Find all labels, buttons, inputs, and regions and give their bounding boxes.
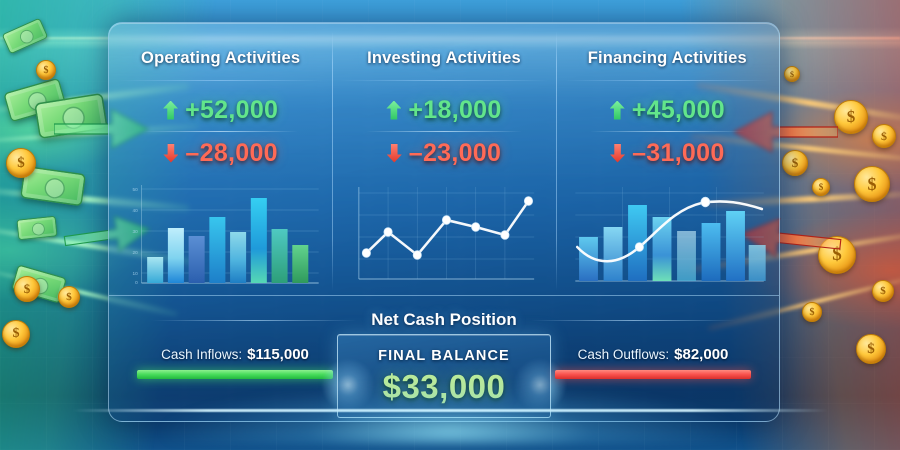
infographic-stage: $ $ $ $ $ $ $ $ $ $ $ $ $ $ $: [0, 0, 900, 450]
cash-inflows-bar: [137, 370, 333, 379]
cash-outflows-text: Cash Outflows:: [578, 347, 670, 362]
gold-coin: $: [854, 166, 890, 202]
svg-text:0: 0: [135, 280, 138, 286]
gold-coin: $: [812, 178, 830, 196]
arrow-up-icon: [610, 101, 625, 120]
cash-outflows-label: Cash Outflows:$82,000: [555, 346, 751, 363]
arrow-up-icon: [386, 101, 401, 120]
dashboard-panel: Operating Activities +52,000 –28,000: [108, 22, 780, 422]
gold-coin: $: [6, 148, 36, 178]
panel-title: Operating Activities: [109, 23, 332, 68]
header-rule-right: [531, 320, 736, 321]
figure-block: +52,000 –28,000: [109, 81, 332, 170]
outflow-figure-row: –28,000: [109, 136, 332, 170]
arrow-down-icon: [610, 144, 625, 163]
cash-outflows-bar: [555, 370, 751, 379]
gold-coin: $: [784, 66, 800, 82]
financing-combo-chart[interactable]: [564, 175, 771, 293]
inflow-figure-row: +45,000: [556, 93, 779, 127]
gold-coin: $: [834, 100, 868, 134]
figure-divider: [143, 131, 298, 132]
inflow-amount: +18,000: [408, 96, 501, 125]
gold-coin: $: [36, 60, 56, 80]
arrow-down-icon: [163, 144, 178, 163]
outflow-amount: –28,000: [185, 139, 277, 168]
svg-text:30: 30: [133, 229, 139, 235]
outflow-figure-row: –31,000: [556, 136, 779, 170]
inflow-amount: +52,000: [185, 96, 278, 125]
net-cash-header: Net Cash Position: [109, 296, 779, 330]
gold-coin: $: [872, 280, 894, 302]
panel-title: Financing Activities: [556, 23, 779, 68]
cash-outflows-block: Cash Outflows:$82,000: [555, 346, 751, 379]
arrow-down-icon: [387, 144, 402, 163]
svg-text:10: 10: [133, 271, 139, 277]
gold-coin: $: [14, 276, 40, 302]
cash-inflows-block: Cash Inflows:$115,000: [137, 346, 333, 379]
svg-text:50: 50: [133, 187, 139, 193]
cash-inflows-value: $115,000: [247, 346, 309, 363]
activity-columns: Operating Activities +52,000 –28,000: [109, 23, 779, 295]
cash-inflows-label: Cash Inflows:$115,000: [137, 346, 333, 363]
svg-text:20: 20: [133, 250, 139, 256]
gold-coin: $: [2, 320, 30, 348]
svg-text:40: 40: [133, 208, 139, 214]
gold-coin: $: [58, 286, 80, 308]
inflow-amount: +45,000: [632, 96, 725, 125]
figure-divider: [366, 131, 521, 132]
panel-operating-activities[interactable]: Operating Activities +52,000 –28,000: [109, 23, 332, 295]
operating-bar-chart[interactable]: 504030 20100: [117, 175, 324, 293]
header-rule-left: [152, 320, 357, 321]
gold-coin: $: [872, 124, 896, 148]
cash-inflows-text: Cash Inflows:: [161, 347, 242, 362]
panel-title: Investing Activities: [332, 23, 555, 68]
investing-line-chart[interactable]: [340, 175, 547, 293]
inflow-figure-row: +18,000: [332, 93, 555, 127]
money-bill: [16, 216, 57, 240]
figure-block: +45,000 –31,000: [556, 81, 779, 170]
floor-glow: [162, 384, 738, 444]
panel-financing-activities[interactable]: Financing Activities +45,000 –31,000: [556, 23, 779, 295]
outflow-amount: –23,000: [409, 139, 501, 168]
outflow-amount: –31,000: [632, 139, 724, 168]
net-cash-title: Net Cash Position: [371, 310, 516, 330]
figure-block: +18,000 –23,000: [332, 81, 555, 170]
outflow-figure-row: –23,000: [332, 136, 555, 170]
inflow-figure-row: +52,000: [109, 93, 332, 127]
final-balance-label: FINAL BALANCE: [338, 348, 550, 364]
figure-divider: [590, 131, 745, 132]
panel-investing-activities[interactable]: Investing Activities +18,000 –23,000: [332, 23, 555, 295]
arrow-up-icon: [163, 101, 178, 120]
gold-coin: $: [856, 334, 886, 364]
cash-outflows-value: $82,000: [674, 346, 728, 363]
gold-coin: $: [802, 302, 822, 322]
